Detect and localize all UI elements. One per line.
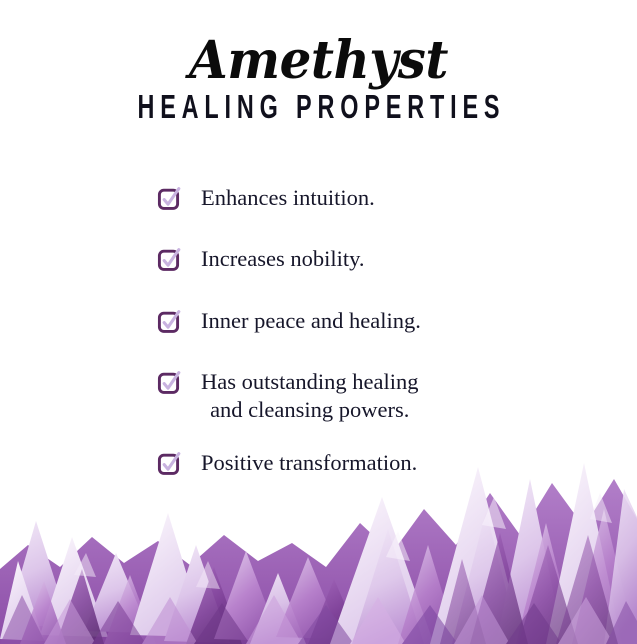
page-title: Amethyst	[13, 34, 625, 87]
list-item-label: Inner peace and healing.	[201, 307, 421, 335]
checkbox-checked-icon	[158, 249, 179, 270]
list-item: Enhances intuition.	[158, 184, 637, 212]
list-item-label: Increases nobility.	[201, 245, 365, 273]
page-subtitle: HEALING PROPERTIES	[70, 91, 567, 125]
header: Amethyst HEALING PROPERTIES	[0, 34, 637, 123]
list-item-label: Has outstanding healing and cleansing po…	[201, 368, 418, 425]
list-item: Increases nobility.	[158, 245, 637, 273]
amethyst-healing-properties-card: Amethyst HEALING PROPERTIES Enhances int…	[0, 0, 637, 644]
amethyst-crystal-cluster-photo	[0, 449, 637, 644]
checkbox-checked-icon	[158, 372, 179, 393]
list-item: Has outstanding healing and cleansing po…	[158, 368, 637, 425]
checkbox-checked-icon	[158, 188, 179, 209]
healing-properties-list: Enhances intuition. Increases nobility. …	[0, 184, 637, 477]
list-item-label: Enhances intuition.	[201, 184, 375, 212]
checkbox-checked-icon	[158, 311, 179, 332]
list-item: Inner peace and healing.	[158, 307, 637, 335]
